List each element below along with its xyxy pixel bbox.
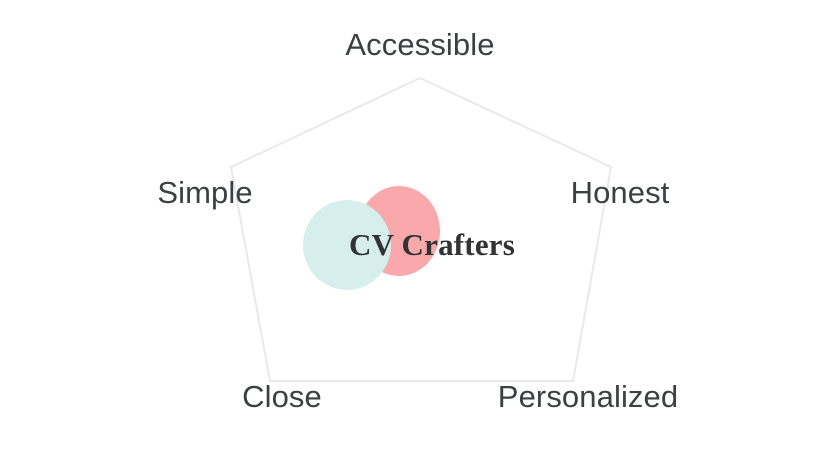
node-label-personalized: Personalized (498, 379, 678, 415)
node-label-simple: Simple (157, 175, 252, 211)
diagram-canvas: CV Crafters Accessible Honest Personaliz… (0, 0, 840, 472)
node-label-honest: Honest (571, 175, 670, 211)
node-label-accessible: Accessible (345, 27, 494, 63)
center-title: CV Crafters (349, 227, 515, 263)
node-label-close: Close (242, 379, 322, 415)
